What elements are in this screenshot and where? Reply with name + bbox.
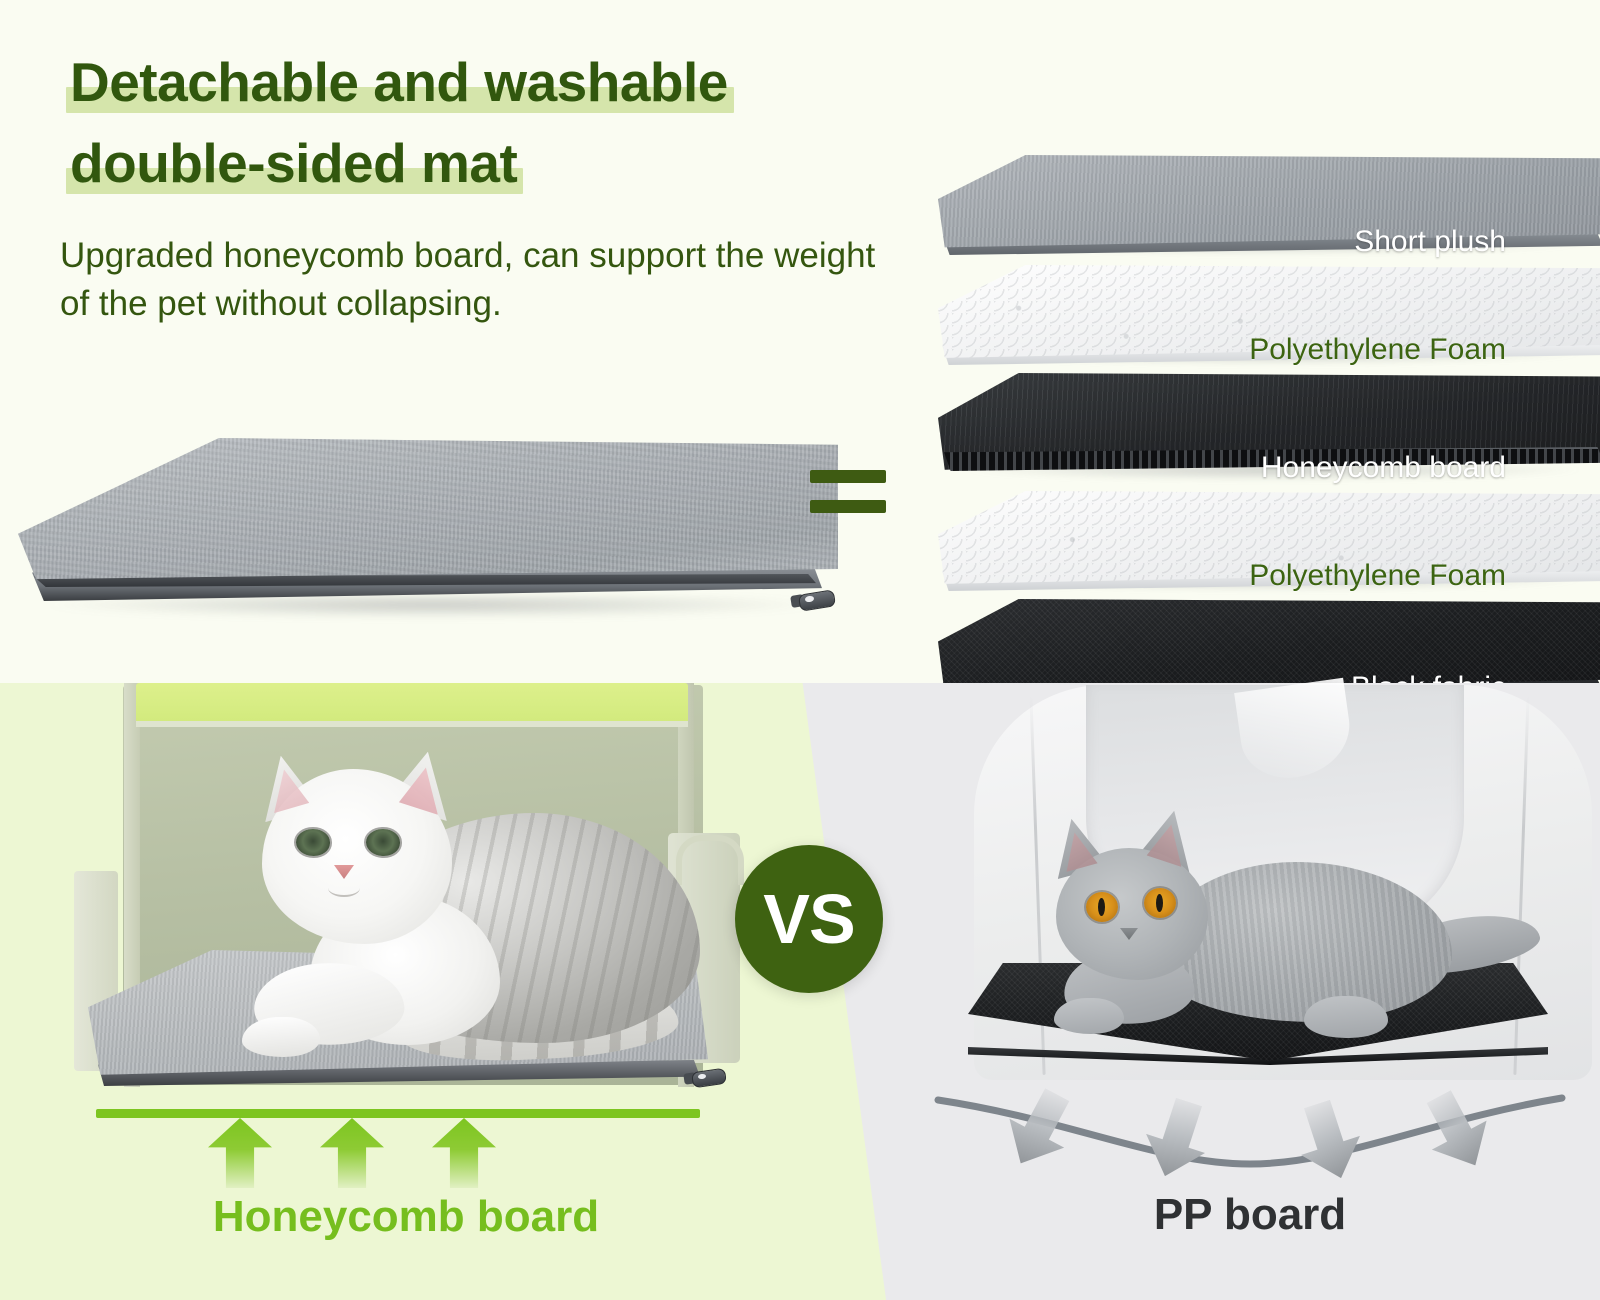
headline-line-1: Detachable and washable <box>70 42 728 122</box>
down-arrow-icon-4 <box>1411 1082 1502 1180</box>
layer-5-label: Black fabric <box>1351 671 1506 683</box>
layer-black-fabric: Black fabric <box>938 599 1600 683</box>
equals-icon <box>810 470 886 528</box>
layer-short-plush: Short plush <box>938 155 1600 265</box>
headline-line-2: double-sided mat <box>70 123 517 203</box>
grey-cat <box>1010 800 1530 1080</box>
pp-board-caption: PP board <box>930 1190 1570 1240</box>
cat-paw <box>242 1017 320 1057</box>
cat-eye-left <box>296 829 330 856</box>
grey-cat-paw-right <box>1304 996 1388 1038</box>
honeycomb-support-line <box>96 1109 700 1118</box>
carrier-mesh-top <box>136 683 688 723</box>
layer-2-label: Polyethylene Foam <box>1249 333 1506 367</box>
headline-line-1-text: Detachable and washable <box>70 51 728 113</box>
top-section: Detachable and washable double-sided mat… <box>0 0 1600 683</box>
equals-bar-bottom <box>810 500 886 513</box>
grey-cat-pupil-left <box>1098 898 1105 916</box>
grey-cat-pupil-right <box>1156 894 1163 912</box>
silver-tabby-cat <box>150 745 710 1075</box>
layer-polyethylene-foam-upper: Polyethylene Foam <box>938 265 1600 373</box>
grey-cat-paw-left <box>1054 998 1124 1034</box>
up-arrow-icon-3 <box>432 1118 496 1188</box>
carrier-mesh-seam <box>136 721 688 727</box>
zipper-pull-icon <box>791 589 835 615</box>
layer-honeycomb-board: Honeycomb board <box>938 373 1600 491</box>
layer-1-label: Short plush <box>1354 225 1506 259</box>
down-arrow-icon-3 <box>1287 1094 1370 1187</box>
subheading-text: Upgraded honeycomb board, can support th… <box>60 232 890 328</box>
mat-shadow <box>48 596 818 618</box>
honeycomb-up-arrows <box>96 1118 700 1188</box>
down-arrow-icon-1 <box>993 1080 1084 1178</box>
honeycomb-board-caption: Honeycomb board <box>96 1192 716 1242</box>
down-arrow-icon-2 <box>1135 1092 1218 1185</box>
layer-4-label: Polyethylene Foam <box>1249 559 1506 593</box>
up-arrow-icon-2 <box>320 1118 384 1188</box>
cat-mouth <box>328 879 360 897</box>
layer-polyethylene-foam-lower: Polyethylene Foam <box>938 491 1600 599</box>
up-arrow-icon-1 <box>208 1118 272 1188</box>
headline-line-2-text: double-sided mat <box>70 132 517 194</box>
cat-eye-right <box>366 829 400 856</box>
layer-3-label: Honeycomb board <box>1261 451 1506 485</box>
equals-bar-top <box>810 470 886 483</box>
zipper-body <box>798 589 836 611</box>
product-mat-illustration <box>18 438 838 638</box>
vs-badge: VS <box>735 845 883 993</box>
headline: Detachable and washable double-sided mat <box>70 42 930 204</box>
infographic-page: Detachable and washable double-sided mat… <box>0 0 1600 1300</box>
layer-stack-diagram: Short plush Polyethylene Foam Honeycomb … <box>938 155 1600 625</box>
vs-label: VS <box>763 884 854 954</box>
pp-down-arrows <box>930 1088 1570 1178</box>
